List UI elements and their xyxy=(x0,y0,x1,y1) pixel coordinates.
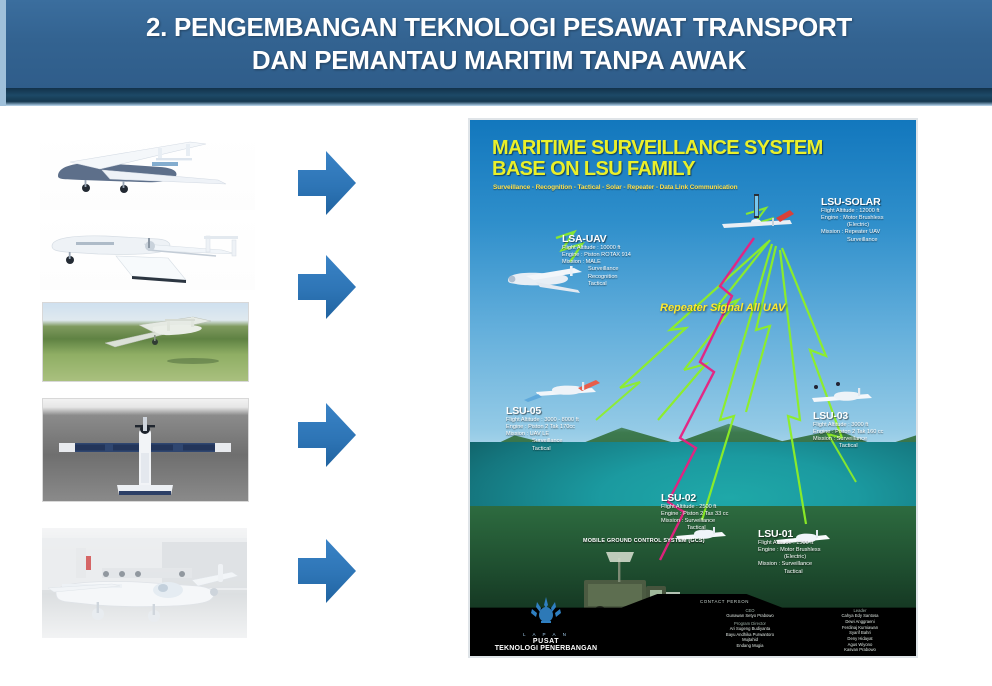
uav-mission-extra-1: Tactical xyxy=(661,525,728,532)
uav-name: LSU-05 xyxy=(506,405,579,417)
poster-subtitle: Surveillance - Recognition - Tactical - … xyxy=(493,184,738,191)
maritime-surveillance-poster: MARITIME SURVEILLANCE SYSTEM BASE ON LSU… xyxy=(468,118,918,658)
lsu-03-aircraft xyxy=(812,382,872,402)
flow-arrow-3 xyxy=(296,400,358,470)
gcs-label: MOBILE GROUND CONTROL SYSTEM (GCS) xyxy=(583,538,705,544)
lapan-logo-block: L A P A N PUSAT TEKNOLOGI PENERBANGAN xyxy=(486,596,606,652)
poster-title-line-2: BASE ON LSU FAMILY xyxy=(492,159,823,180)
uav-mission: Mission : Repeater UAV xyxy=(821,229,880,235)
uav-callout-lsu-05: LSU-05 Flight Altitude : 3000 - 8000 ft … xyxy=(506,405,579,453)
uav-photo-lsa-white xyxy=(40,132,255,210)
uav-engine: Engine : Piston 2 Tak 170cc xyxy=(506,424,575,430)
uav-name: LSU-SOLAR xyxy=(821,196,884,208)
uav-engine: Engine : Piston ROTAX 914 xyxy=(562,252,631,258)
slide-root: 2. PENGEMBANGAN TEKNOLOGI PESAWAT TRANSP… xyxy=(0,0,992,686)
uav-photo-field-takeoff xyxy=(42,302,249,382)
title-underbar xyxy=(0,88,992,106)
contact-person-block: CONTACT PERSON CEO Gunawan Setyo Prabowo… xyxy=(700,599,910,653)
contact-column-2: Leader Cahya Edy Santosa Dewi Anggraeni … xyxy=(810,606,910,653)
uav-mission: Mission : Surveillance xyxy=(661,518,715,524)
lsu-solar-aircraft xyxy=(722,194,794,228)
uav-specs: Flight Altitude : 1500 ft Engine : Motor… xyxy=(758,540,821,576)
uav-name: LSA-UAV xyxy=(562,233,631,245)
uav-mission-extra-1: Surveillance xyxy=(562,266,631,273)
contact-names-leader: Cahya Edy Santosa Dewi Anggraeni Ferdina… xyxy=(810,613,910,653)
uav-photo-hangar xyxy=(42,528,247,638)
uav-mission-extra-2: Tactical xyxy=(506,446,579,453)
uav-callout-lsu-02: LSU-02 Flight Altitude : 2500 ft Engine … xyxy=(661,492,728,533)
poster-title-line-1: MARITIME SURVEILLANCE SYSTEM xyxy=(492,138,823,159)
contact-header: CONTACT PERSON xyxy=(700,599,910,604)
uav-engine: Engine : Piston 2 Tax 33 cc xyxy=(661,511,728,517)
uav-mission-extra-1: Tactical xyxy=(758,569,821,576)
uav-name: LSU-02 xyxy=(661,492,728,504)
uav-specs: Flight Altitude : 3000 ft Engine : Pisto… xyxy=(813,422,883,451)
uav-altitude: Flight Altitude : 1500 ft xyxy=(758,540,813,546)
uav-callout-lsu-03: LSU-03 Flight Altitude : 3000 ft Engine … xyxy=(813,410,883,451)
slide-title-line-2: DAN PEMANTAU MARITIM TANPA AWAK xyxy=(252,44,746,77)
uav-mission: Mission : MALE xyxy=(562,259,601,265)
uav-mission: Mission : Surveillance xyxy=(813,436,867,442)
aircraft-illustration xyxy=(42,528,247,638)
uav-mission-extra-1: Tactical xyxy=(813,443,883,450)
uav-mission-extra: Surveillance xyxy=(821,237,884,244)
right-arrow-icon xyxy=(296,536,358,606)
right-arrow-icon xyxy=(296,252,358,322)
contact-column-1: CEO Gunawan Setyo Prabowo Program Direct… xyxy=(700,606,800,653)
uav-mission-extra-2: Recognition xyxy=(562,274,631,281)
slide-title-banner: 2. PENGEMBANGAN TEKNOLOGI PESAWAT TRANSP… xyxy=(0,0,992,88)
uav-mission: Mission : Surveillance xyxy=(758,561,812,567)
uav-engine: Engine : Motor Brushless xyxy=(821,215,884,221)
uav-altitude: Flight Altitude : 12000 ft xyxy=(821,208,879,214)
logo-line-1: PUSAT xyxy=(486,638,606,645)
flow-arrow-1 xyxy=(296,148,358,218)
uav-callout-lsu-01: LSU-01 Flight Altitude : 1500 ft Engine … xyxy=(758,528,821,576)
uav-engine: Engine : Motor Brushless xyxy=(758,547,821,553)
right-arrow-icon xyxy=(296,400,358,470)
uav-mission-extra-1: Surveillance xyxy=(506,438,579,445)
contact-names-program-director: Ari Sugeng Budiyanta Bayu Andhika Purwan… xyxy=(700,626,800,649)
flow-arrow-4 xyxy=(296,536,358,606)
uav-specs: Flight Altitude : 3000 - 8000 ft Engine … xyxy=(506,417,579,453)
uav-altitude: Flight Altitude : 3000 ft xyxy=(813,422,868,428)
uav-photo-solar-wing xyxy=(42,398,249,502)
uav-specs: Flight Altitude : 10000 ft Engine : Pist… xyxy=(562,245,631,288)
aircraft-illustration xyxy=(43,399,248,501)
logo-line-2: TEKNOLOGI PENERBANGAN xyxy=(486,645,606,652)
aircraft-illustration xyxy=(40,132,255,210)
slide-title-line-1: 2. PENGEMBANGAN TEKNOLOGI PESAWAT TRANSP… xyxy=(146,11,852,44)
right-arrow-icon xyxy=(296,148,358,218)
uav-altitude: Flight Altitude : 3000 - 8000 ft xyxy=(506,417,579,423)
uav-specs: Flight Altitude : 12000 ft Engine : Moto… xyxy=(821,208,884,244)
flow-arrow-2 xyxy=(296,252,358,322)
uav-callout-lsa-uav: LSA-UAV Flight Altitude : 10000 ft Engin… xyxy=(562,233,631,288)
lapan-wordmark: L A P A N xyxy=(486,632,606,637)
uav-name: LSU-03 xyxy=(813,410,883,422)
uav-callout-lsu-solar: LSU-SOLAR Flight Altitude : 12000 ft Eng… xyxy=(821,196,884,244)
uav-photo-twin-boom xyxy=(40,212,255,290)
uav-engine: Engine : Piston 2 Tak 160 cc xyxy=(813,429,883,435)
aircraft-illustration xyxy=(43,303,248,381)
contact-name-ceo: Gunawan Setyo Prabowo xyxy=(700,613,800,619)
uav-name: LSU-01 xyxy=(758,528,821,540)
lapan-logo-icon xyxy=(529,596,563,626)
uav-altitude: Flight Altitude : 10000 ft xyxy=(562,245,620,251)
lsu-05-aircraft xyxy=(524,380,600,402)
uav-specs: Flight Altitude : 2500 ft Engine : Pisto… xyxy=(661,504,728,533)
poster-title: MARITIME SURVEILLANCE SYSTEM BASE ON LSU… xyxy=(492,138,823,180)
aircraft-illustration xyxy=(40,212,255,290)
repeater-signal-label: Repeater Signal All UAV xyxy=(660,302,785,314)
uav-mission-extra-3: Tactical xyxy=(562,281,631,288)
uav-mission: Mission : UAV LE xyxy=(506,431,549,437)
uav-altitude: Flight Altitude : 2500 ft xyxy=(661,504,716,510)
